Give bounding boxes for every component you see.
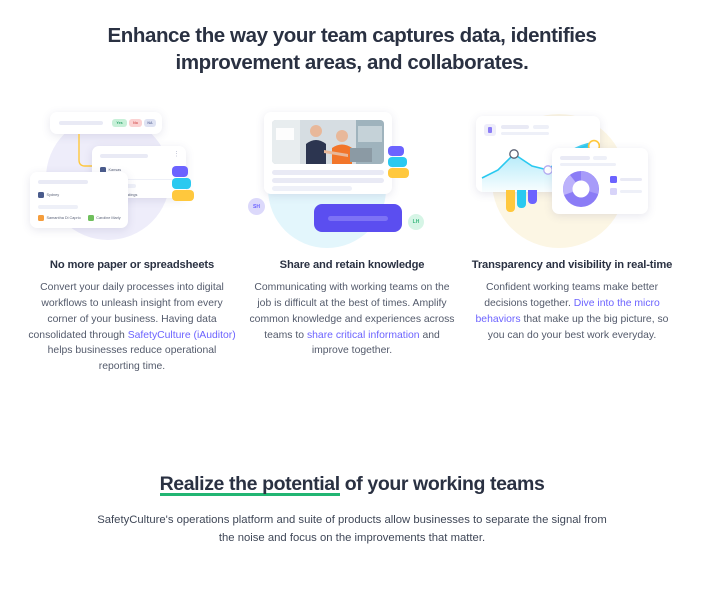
chip-row: Sydney xyxy=(38,192,59,198)
placeholder-line xyxy=(272,178,384,183)
chip-label: Sydney xyxy=(47,193,60,197)
photo-thumbnail xyxy=(272,120,384,164)
cta-body: SafetyCulture's operations platform and … xyxy=(90,511,614,548)
color-blocks xyxy=(172,166,194,201)
analytics-dashboard-illustration xyxy=(468,104,676,249)
placeholder-line xyxy=(38,180,88,184)
placeholder-line xyxy=(59,121,103,125)
feature-columns: Yes No NA ⋮ Kansas xyxy=(0,104,704,375)
body-text-part: helps businesses reduce operational repo… xyxy=(48,345,217,372)
chip-sydney: Sydney xyxy=(38,192,59,198)
media-post-card xyxy=(264,112,392,194)
feature-body-2: Communicating with working teams on the … xyxy=(248,280,456,359)
link-share-critical-information[interactable]: share critical information xyxy=(307,330,420,341)
color-blocks xyxy=(388,146,409,178)
message-bubble xyxy=(314,204,402,232)
placeholder-line xyxy=(501,125,529,129)
chip-label: Samantha Di Caprio xyxy=(47,216,81,220)
upload-icon xyxy=(488,127,492,133)
avatar-sh: SH xyxy=(248,198,265,215)
question-card: Yes No NA xyxy=(50,112,162,134)
feature-column-3: Transparency and visibility in real-time… xyxy=(462,104,682,375)
placeholder-line xyxy=(38,205,78,209)
legend-line xyxy=(620,190,642,193)
feature-column-2: SH LH Share and retain knowledge Communi… xyxy=(242,104,462,375)
avatar-icon xyxy=(88,215,94,221)
feature-title-3: Transparency and visibility in real-time xyxy=(468,259,676,271)
chart-point xyxy=(544,166,552,174)
feature-body-1: Convert your daily processes into digita… xyxy=(28,280,236,375)
placeholder-line xyxy=(593,156,607,160)
group-icon xyxy=(38,192,44,198)
feature-title-1: No more paper or spreadsheets xyxy=(28,259,236,271)
knowledge-sharing-illustration: SH LH xyxy=(248,104,456,249)
feature-column-1: Yes No NA ⋮ Kansas xyxy=(22,104,242,375)
avatar-icon xyxy=(38,215,44,221)
more-options-icon[interactable]: ⋮ xyxy=(173,152,180,157)
assignee-card-sydney: Sydney Samantha Di Caprio Caroline Marly xyxy=(30,172,128,228)
cta-section: Realize the potential of your working te… xyxy=(0,471,704,548)
cta-heading: Realize the potential of your working te… xyxy=(90,471,614,497)
legend-swatch xyxy=(610,176,617,183)
color-block-cyan xyxy=(172,178,191,189)
landing-page: Enhance the way your team captures data,… xyxy=(0,22,704,600)
chip-row: Samantha Di Caprio Caroline Marly xyxy=(38,215,121,221)
bar-yellow xyxy=(506,190,515,212)
placeholder-line xyxy=(560,163,616,166)
color-block-yellow xyxy=(388,168,409,178)
feature-title-2: Share and retain knowledge xyxy=(248,259,456,271)
color-block-purple xyxy=(388,146,404,156)
chip-caroline-marly: Caroline Marly xyxy=(88,215,121,221)
placeholder-line xyxy=(560,156,590,160)
placeholder-line xyxy=(100,154,148,158)
chip-label: Caroline Marly xyxy=(96,216,120,220)
chart-point xyxy=(510,150,518,158)
placeholder-line xyxy=(272,186,352,191)
cta-heading-rest: of your working teams xyxy=(340,473,545,495)
pill-yes: Yes xyxy=(112,119,127,127)
page-title: Enhance the way your team captures data,… xyxy=(47,22,657,76)
pill-na: NA xyxy=(144,119,156,127)
placeholder-line xyxy=(501,132,549,135)
chip-samantha-di-caprio: Samantha Di Caprio xyxy=(38,215,81,221)
pill-no: No xyxy=(129,119,142,127)
legend-line xyxy=(620,178,642,181)
placeholder-line xyxy=(272,170,384,175)
inspection-cards-illustration: Yes No NA ⋮ Kansas xyxy=(28,104,236,249)
feature-body-3: Confident working teams make better deci… xyxy=(468,280,676,343)
cta-heading-underlined: Realize the potential xyxy=(160,473,340,496)
color-block-purple xyxy=(172,166,188,177)
link-safetyculture-iauditor[interactable]: SafetyCulture (iAuditor) xyxy=(128,330,236,341)
legend-swatch xyxy=(610,188,617,195)
donut-chart-card xyxy=(552,148,648,214)
donut-chart xyxy=(558,167,604,211)
avatar-lh: LH xyxy=(408,214,424,230)
bar-purple xyxy=(528,190,537,204)
color-block-yellow xyxy=(172,190,194,201)
placeholder-line xyxy=(533,125,549,129)
placeholder-line xyxy=(328,216,388,221)
color-block-cyan xyxy=(388,157,407,167)
workplace-photo xyxy=(272,120,384,164)
bar-cyan xyxy=(517,190,526,208)
